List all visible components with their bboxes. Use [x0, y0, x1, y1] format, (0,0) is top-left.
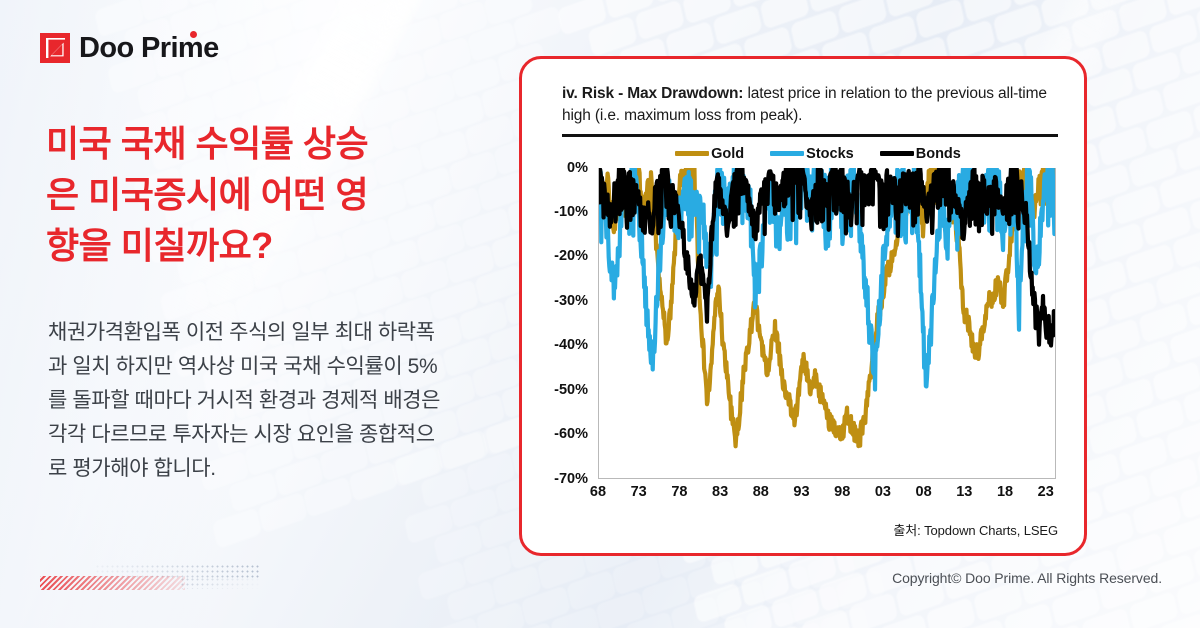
legend-swatch-bonds-icon — [880, 151, 914, 156]
x-axis-tick-label: 83 — [712, 484, 728, 500]
x-axis-tick-label: 78 — [671, 484, 687, 500]
x-axis-tick-label: 68 — [590, 484, 606, 500]
x-axis-tick-label: 93 — [793, 484, 809, 500]
body-line-2: 과 일치 하지만 역사상 미국 국채 수익률이 5% — [48, 350, 518, 384]
legend-item-bonds: Bonds — [880, 146, 961, 162]
headline-line-1: 미국 국채 수익률 상승 — [46, 118, 466, 169]
legend-label: Bonds — [916, 146, 961, 162]
chart-title-bold: iv. Risk - Max Drawdown: — [562, 85, 743, 102]
y-axis-tick-label: -30% — [554, 293, 588, 309]
headline-line-2: 은 미국증시에 어떤 영 — [46, 169, 466, 220]
chart-source-note: 출처: Topdown Charts, LSEG — [893, 520, 1058, 539]
chart-card: iv. Risk - Max Drawdown: latest price in… — [519, 56, 1087, 556]
y-axis-tick-label: -40% — [554, 337, 588, 353]
hexagon-cell — [213, 508, 262, 548]
x-axis-tick-label: 88 — [753, 484, 769, 500]
chart-title-rule — [562, 134, 1058, 137]
y-axis-labels: 0%-10%-20%-30%-40%-50%-60%-70% — [542, 168, 594, 479]
chart-plot-wrapper: 0%-10%-20%-30%-40%-50%-60%-70% 687378838… — [542, 168, 1064, 506]
footer-decoration — [40, 564, 260, 590]
x-axis-tick-label: 18 — [997, 484, 1013, 500]
y-axis-tick-label: 0% — [567, 160, 588, 176]
headline: 미국 국채 수익률 상승 은 미국증시에 어떤 영 향을 미칠까요? — [46, 118, 466, 271]
body-line-4: 각각 다르므로 투자자는 시장 요인을 종합적으 — [48, 418, 518, 452]
x-axis-tick-label: 73 — [631, 484, 647, 500]
x-axis-tick-label: 98 — [834, 484, 850, 500]
chart-inner: iv. Risk - Max Drawdown: latest price in… — [522, 59, 1084, 553]
legend-item-gold: Gold — [675, 146, 744, 162]
legend-item-stocks: Stocks — [770, 146, 854, 162]
doo-prime-arrow-mark-icon — [40, 33, 70, 63]
chart-plot-area — [598, 168, 1056, 479]
legend-swatch-gold-icon — [675, 151, 709, 156]
y-axis-tick-label: -10% — [554, 204, 588, 220]
arrow-icon — [46, 38, 65, 58]
x-axis-tick-label: 03 — [875, 484, 891, 500]
x-axis-tick-label: 08 — [916, 484, 932, 500]
y-axis-tick-label: -70% — [554, 471, 588, 487]
y-axis-tick-label: -20% — [554, 248, 588, 264]
decoration-dot-grid-secondary — [180, 577, 260, 589]
x-axis-labels: 687378838893980308131823 — [598, 481, 1056, 505]
brand-name: Doo Prime — [79, 32, 219, 64]
chart-legend: GoldStocksBonds — [542, 146, 1064, 162]
chart-title: iv. Risk - Max Drawdown: latest price in… — [542, 83, 1064, 127]
y-axis-tick-label: -50% — [554, 382, 588, 398]
x-axis-tick-label: 13 — [956, 484, 972, 500]
logo-accent-dot-icon — [190, 31, 197, 38]
body-line-3: 를 돌파할 때마다 거시적 환경과 경제적 배경은 — [48, 384, 518, 418]
copyright-text: Copyright© Doo Prime. All Rights Reserve… — [892, 570, 1162, 586]
chart-svg — [599, 168, 1055, 478]
legend-label: Gold — [711, 146, 744, 162]
body-copy: 채권가격환입폭 이전 주식의 일부 최대 하락폭 과 일치 하지만 역사상 미국… — [48, 316, 518, 486]
body-line-1: 채권가격환입폭 이전 주식의 일부 최대 하락폭 — [48, 316, 518, 350]
brand-logo[interactable]: Doo Prime — [40, 33, 219, 63]
decoration-red-hatch — [40, 576, 185, 590]
brand-logo-text: Doo Prime — [79, 34, 219, 63]
legend-label: Stocks — [806, 146, 854, 162]
x-axis-tick-label: 23 — [1038, 484, 1054, 500]
legend-swatch-stocks-icon — [770, 151, 804, 156]
headline-line-3: 향을 미칠까요? — [46, 220, 466, 271]
y-axis-tick-label: -60% — [554, 426, 588, 442]
body-line-5: 로 평가해야 합니다. — [48, 452, 518, 486]
